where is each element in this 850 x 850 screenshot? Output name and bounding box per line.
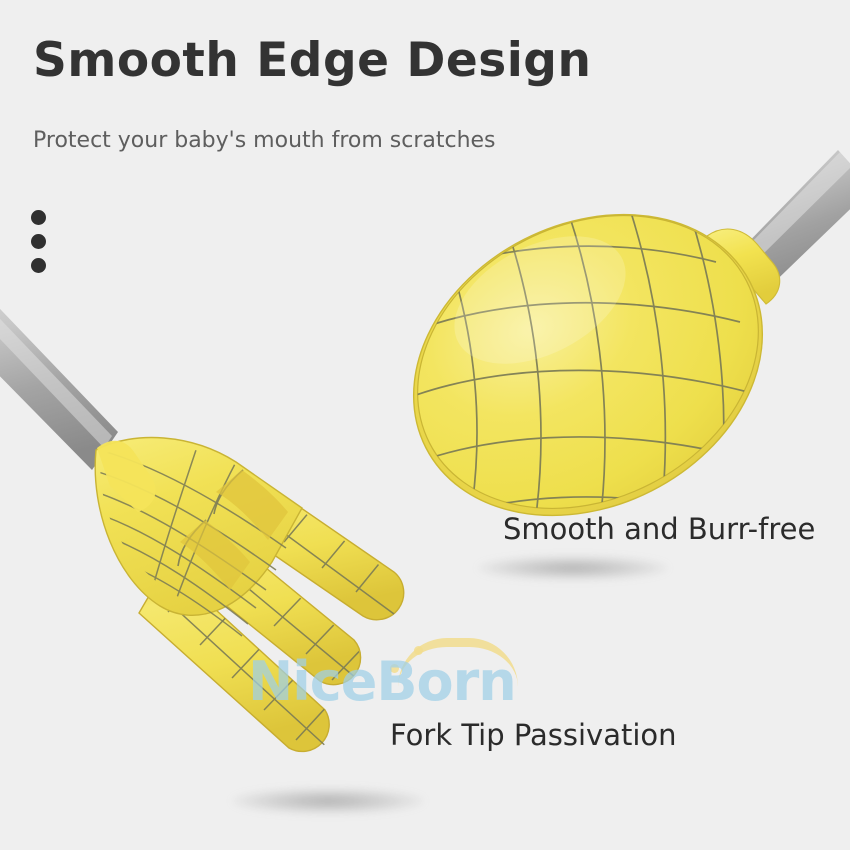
- bullet-dot: [31, 210, 46, 225]
- fork-caption: Fork Tip Passivation: [390, 718, 677, 752]
- spoon-caption: Smooth and Burr-free: [503, 512, 815, 546]
- product-feature-poster: NiceBorn Smooth Edge Design Protect your…: [0, 0, 850, 850]
- spoon-graphic: [362, 150, 850, 573]
- page-title: Smooth Edge Design: [33, 33, 591, 88]
- page-subtitle: Protect your baby's mouth from scratches: [33, 128, 496, 153]
- fork-graphic: [0, 288, 404, 751]
- fork-drop-shadow: [232, 788, 424, 814]
- bullet-dot: [31, 234, 46, 249]
- spoon-drop-shadow: [478, 556, 668, 580]
- bullet-dot: [31, 258, 46, 273]
- spoon-bowl: [367, 159, 809, 565]
- bullet-dots: [31, 210, 49, 280]
